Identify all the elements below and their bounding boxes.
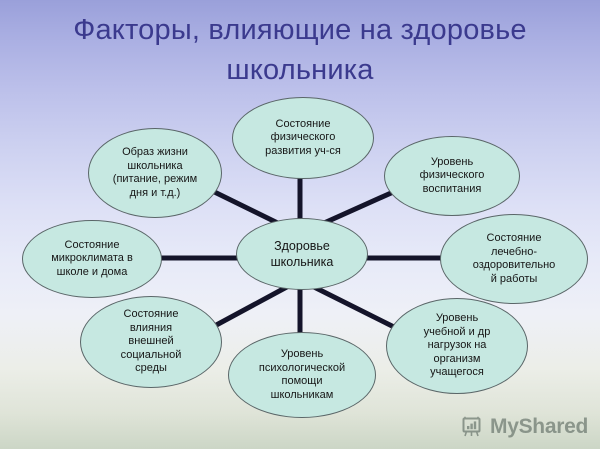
node-center-health-label: Здоровье школьника (271, 238, 334, 270)
node-medical-work-label: Состояние лечебно- оздоровительно й рабо… (473, 232, 556, 286)
node-external-environment-label: Состояние влияния внешней социальной сре… (121, 308, 182, 376)
watermark: MyShared (460, 415, 588, 439)
node-medical-work[interactable]: Состояние лечебно- оздоровительно й рабо… (440, 214, 588, 304)
node-lifestyle[interactable]: Образ жизни школьника (питание, режим дн… (88, 128, 222, 218)
node-physical-education[interactable]: Уровень физического воспитания (384, 136, 520, 216)
slide-canvas: Факторы, влияющие на здоровье школьника … (0, 0, 600, 449)
node-physical-development[interactable]: Состояние физического развития уч-ся (232, 97, 374, 179)
node-microclimate[interactable]: Состояние микроклимата в школе и дома (22, 220, 162, 298)
node-psychological-help[interactable]: Уровень психологической помощи школьника… (228, 332, 376, 418)
node-physical-development-label: Состояние физического развития уч-ся (265, 118, 341, 159)
watermark-text: MyShared (490, 415, 588, 439)
presentation-board-icon (460, 415, 484, 439)
node-external-environment[interactable]: Состояние влияния внешней социальной сре… (80, 296, 222, 388)
node-physical-education-label: Уровень физического воспитания (420, 156, 485, 197)
node-center-health[interactable]: Здоровье школьника (236, 218, 368, 290)
node-psychological-help-label: Уровень психологической помощи школьника… (259, 348, 345, 402)
node-microclimate-label: Состояние микроклимата в школе и дома (51, 239, 133, 280)
node-academic-load-label: Уровень учебной и др нагрузок на организ… (424, 312, 491, 380)
node-academic-load[interactable]: Уровень учебной и др нагрузок на организ… (386, 298, 528, 394)
node-lifestyle-label: Образ жизни школьника (питание, режим дн… (113, 146, 197, 200)
